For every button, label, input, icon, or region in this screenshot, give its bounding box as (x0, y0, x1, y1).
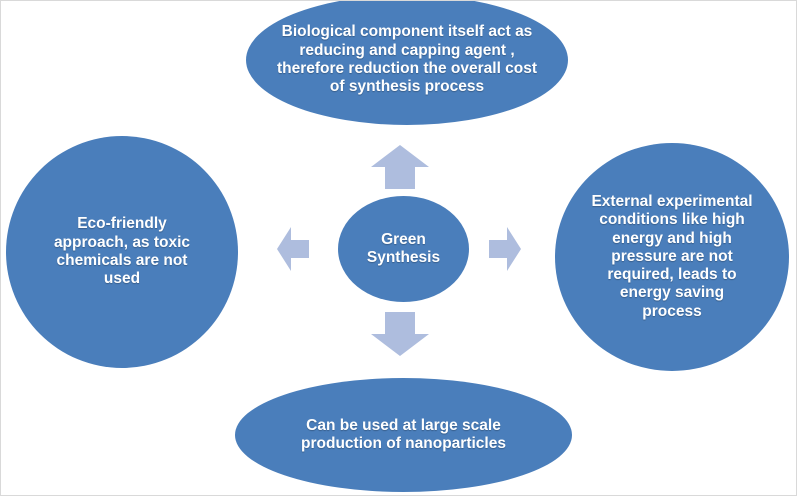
node-external-conditions-label: External experimental conditions like hi… (555, 193, 789, 321)
node-green-synthesis[interactable]: Green Synthesis (338, 196, 469, 302)
arrow-up-icon (371, 145, 429, 189)
arrow-down-icon (371, 312, 429, 356)
diagram-canvas: Biological component itself act as reduc… (0, 0, 797, 496)
arrow-left-icon (277, 227, 309, 271)
node-eco-friendly-approach[interactable]: Eco-friendly approach, as toxic chemical… (6, 136, 238, 368)
node-large-scale-production-label: Can be used at large scale production of… (235, 417, 572, 454)
node-biological-component-label: Biological component itself act as reduc… (246, 23, 568, 96)
arrow-right-icon (489, 227, 521, 271)
node-green-synthesis-label: Green Synthesis (338, 231, 469, 268)
node-large-scale-production[interactable]: Can be used at large scale production of… (235, 378, 572, 492)
node-eco-friendly-approach-label: Eco-friendly approach, as toxic chemical… (6, 215, 238, 288)
node-biological-component[interactable]: Biological component itself act as reduc… (246, 0, 568, 125)
node-external-conditions[interactable]: External experimental conditions like hi… (555, 143, 789, 371)
